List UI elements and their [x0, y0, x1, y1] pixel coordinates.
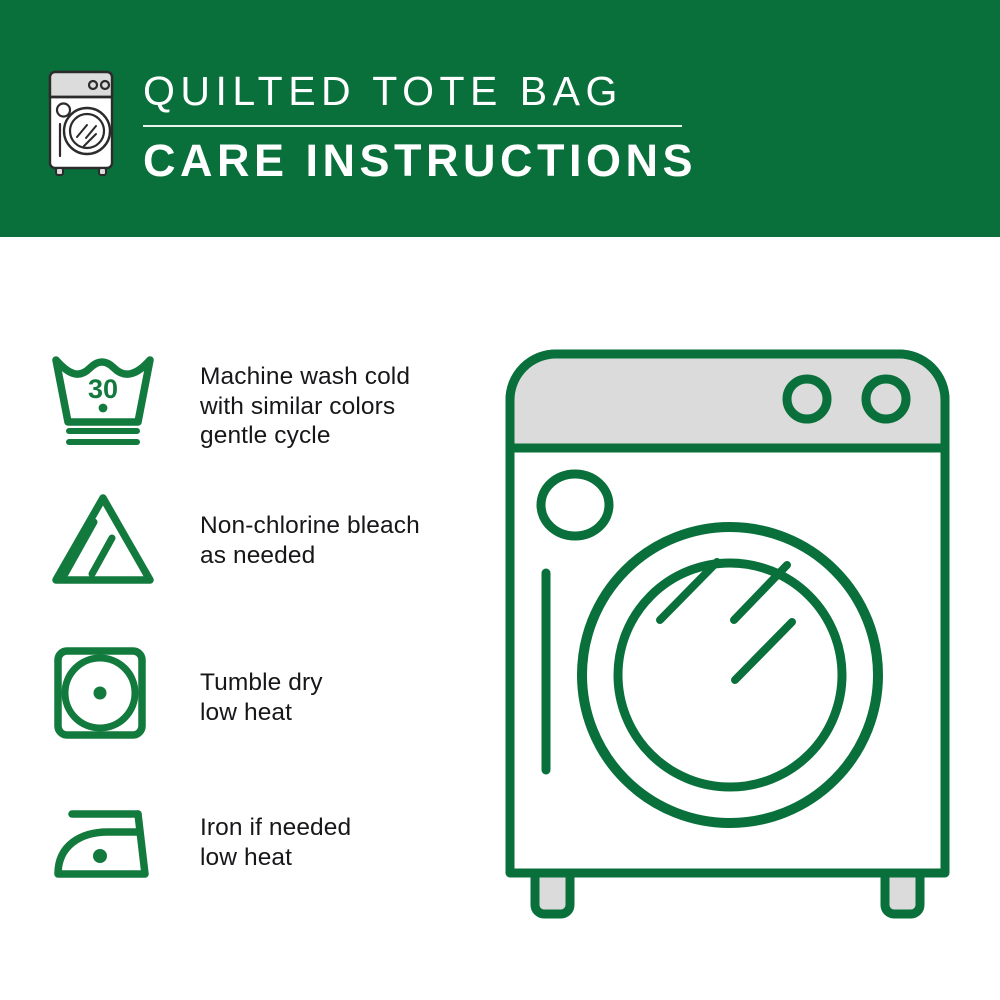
bleach-triangle-icon	[50, 490, 160, 595]
care-text-dry: Tumble dry low heat	[200, 668, 323, 727]
wash-temperature-label: 30	[88, 374, 118, 404]
header-banner: QUILTED TOTE BAG CARE INSTRUCTIONS	[0, 0, 1000, 237]
iron-icon	[50, 798, 160, 893]
leg-left	[535, 873, 570, 914]
header-text-block: QUILTED TOTE BAG CARE INSTRUCTIONS	[143, 66, 763, 187]
care-text-iron: Iron if needed low heat	[200, 813, 351, 872]
washing-machine-illustration	[490, 330, 965, 930]
page-title: QUILTED TOTE BAG	[143, 66, 763, 116]
control-panel	[510, 354, 945, 448]
care-text-bleach: Non-chlorine bleach as needed	[200, 511, 420, 570]
care-text-wash: Machine wash cold with similar colors ge…	[200, 362, 410, 451]
wash-tub-30-icon: 30	[50, 348, 160, 453]
care-instructions-list: 30 Machine wash cold with similar colors…	[0, 237, 470, 1000]
washing-machine-logo-icon	[46, 68, 120, 176]
leg-right	[885, 873, 920, 914]
title-divider	[143, 125, 682, 127]
page-subtitle: CARE INSTRUCTIONS	[143, 135, 763, 187]
care-instructions-infographic: QUILTED TOTE BAG CARE INSTRUCTIONS 30	[0, 0, 1000, 1000]
tumble-dry-icon	[50, 643, 160, 748]
